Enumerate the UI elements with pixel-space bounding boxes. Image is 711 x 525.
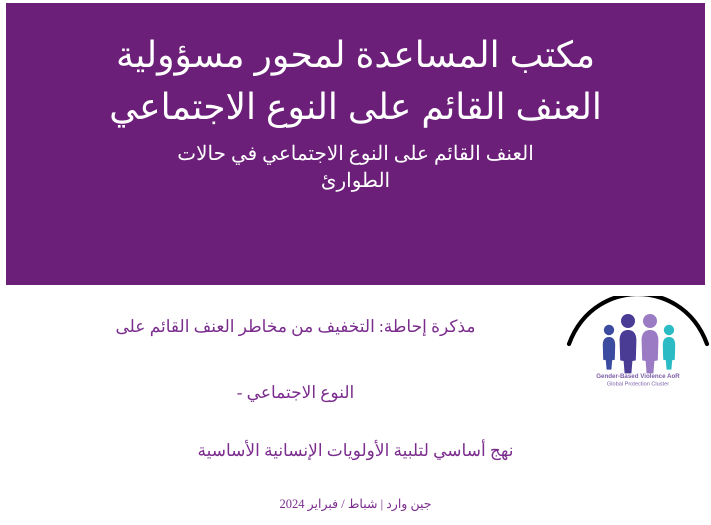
page-title: مكتب المساعدة لمحور مسؤولية العنف القائم… <box>46 29 665 133</box>
logo-caption-line1: Gender-Based Violence AoR <box>596 373 680 380</box>
logo-caption-line2: Global Protection Cluster <box>607 382 669 388</box>
page-subtitle: العنف القائم على النوع الاجتماعي في حالا… <box>46 141 665 195</box>
author-date-footer: جين وارد | شباط / فبراير 2024 <box>0 496 711 512</box>
gbv-aor-logo-icon: Gender-Based Violence AoR Global Protect… <box>565 296 711 388</box>
body-text-line-3: نهج أساسي لتلبية الأولويات الإنسانية الأ… <box>0 440 711 462</box>
slide-canvas: مكتب المساعدة لمحور مسؤولية العنف القائم… <box>0 0 711 525</box>
title-banner: مكتب المساعدة لمحور مسؤولية العنف القائم… <box>6 3 705 285</box>
